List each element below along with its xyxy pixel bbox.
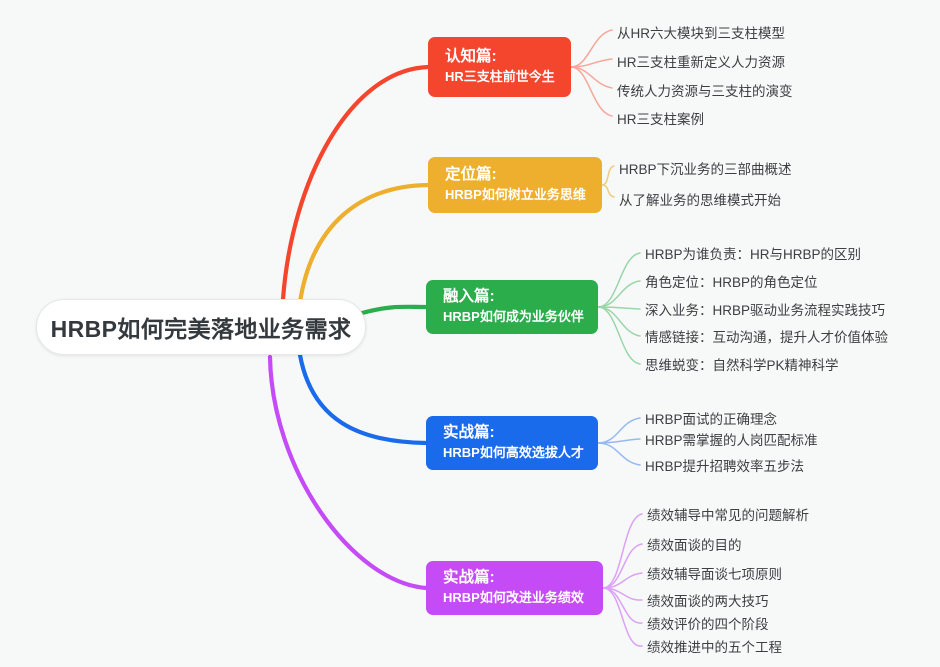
leaf-item[interactable]: 绩效面谈的两大技巧 bbox=[647, 595, 769, 609]
leaf-fan-practice-talent bbox=[598, 418, 640, 465]
leaf-item[interactable]: HR三支柱重新定义人力资源 bbox=[617, 56, 785, 70]
branch-subtitle: HR三支柱前世今生 bbox=[445, 68, 555, 86]
leaf-item[interactable]: HRBP下沉业务的三部曲概述 bbox=[619, 163, 792, 177]
leaf-item[interactable]: 绩效辅导面谈七项原则 bbox=[647, 568, 782, 582]
leaf-item[interactable]: HRBP提升招聘效率五步法 bbox=[645, 460, 804, 474]
branch-title: 融入篇: bbox=[443, 287, 582, 307]
root-node-label: HRBP如何完美落地业务需求 bbox=[51, 310, 352, 344]
leaf-item[interactable]: 情感链接：互动沟通，提升人才价值体验 bbox=[645, 331, 888, 345]
leaf-item[interactable]: 从HR六大模块到三支柱模型 bbox=[617, 27, 785, 41]
branch-subtitle: HRBP如何改进业务绩效 bbox=[443, 589, 587, 607]
leaf-item[interactable]: HR三支柱案例 bbox=[617, 113, 704, 127]
trunk-curve-integration bbox=[362, 307, 426, 313]
leaf-item[interactable]: HRBP需掌握的人岗匹配标准 bbox=[645, 434, 818, 448]
branch-subtitle: HRBP如何树立业务思维 bbox=[445, 186, 586, 204]
branch-node-integration[interactable]: 融入篇: HRBP如何成为业务伙伴 bbox=[426, 280, 598, 334]
branch-title: 认知篇: bbox=[445, 47, 555, 67]
branch-title: 定位篇: bbox=[445, 165, 586, 185]
branch-title: 实战篇: bbox=[443, 568, 587, 588]
leaf-item[interactable]: 从了解业务的思维模式开始 bbox=[619, 194, 781, 208]
leaf-item[interactable]: 绩效辅导中常见的问题解析 bbox=[647, 509, 809, 523]
branch-subtitle: HRBP如何高效选拔人才 bbox=[443, 444, 582, 462]
trunk-curve-practice-performance bbox=[270, 357, 426, 588]
leaf-item[interactable]: HRBP面试的正确理念 bbox=[645, 413, 777, 427]
root-node[interactable]: HRBP如何完美落地业务需求 bbox=[36, 299, 366, 355]
branch-title: 实战篇: bbox=[443, 423, 582, 443]
leaf-item[interactable]: 绩效评价的四个阶段 bbox=[647, 618, 769, 632]
leaf-item[interactable]: 深入业务：HRBP驱动业务流程实践技巧 bbox=[645, 304, 885, 318]
trunk-curve-cognition bbox=[283, 67, 428, 299]
mindmap-canvas: HRBP如何完美落地业务需求 认知篇: HR三支柱前世今生 定位篇: HRBP如… bbox=[0, 0, 940, 667]
branch-subtitle: HRBP如何成为业务伙伴 bbox=[443, 308, 582, 326]
leaf-fan-practice-performance bbox=[603, 514, 642, 646]
leaf-fan-integration bbox=[598, 253, 640, 364]
leaf-item[interactable]: 绩效面谈的目的 bbox=[647, 539, 742, 553]
leaf-item[interactable]: 传统人力资源与三支柱的演变 bbox=[617, 85, 793, 99]
trunk-curve-positioning bbox=[300, 185, 428, 302]
branch-node-positioning[interactable]: 定位篇: HRBP如何树立业务思维 bbox=[428, 157, 602, 213]
branch-node-cognition[interactable]: 认知篇: HR三支柱前世今生 bbox=[428, 37, 571, 97]
branch-node-practice-performance[interactable]: 实战篇: HRBP如何改进业务绩效 bbox=[426, 561, 603, 615]
trunk-curve-practice-talent bbox=[300, 355, 426, 443]
leaf-item[interactable]: 思维蜕变：自然科学PK精神科学 bbox=[645, 359, 839, 373]
leaf-fan-cognition bbox=[571, 30, 612, 116]
branch-node-practice-talent[interactable]: 实战篇: HRBP如何高效选拔人才 bbox=[426, 416, 598, 470]
leaf-fan-positioning bbox=[602, 166, 614, 197]
leaf-item[interactable]: 角色定位：HRBP的角色定位 bbox=[645, 276, 818, 290]
leaf-item[interactable]: HRBP为谁负责：HR与HRBP的区别 bbox=[645, 248, 861, 262]
leaf-item[interactable]: 绩效推进中的五个工程 bbox=[647, 641, 782, 655]
